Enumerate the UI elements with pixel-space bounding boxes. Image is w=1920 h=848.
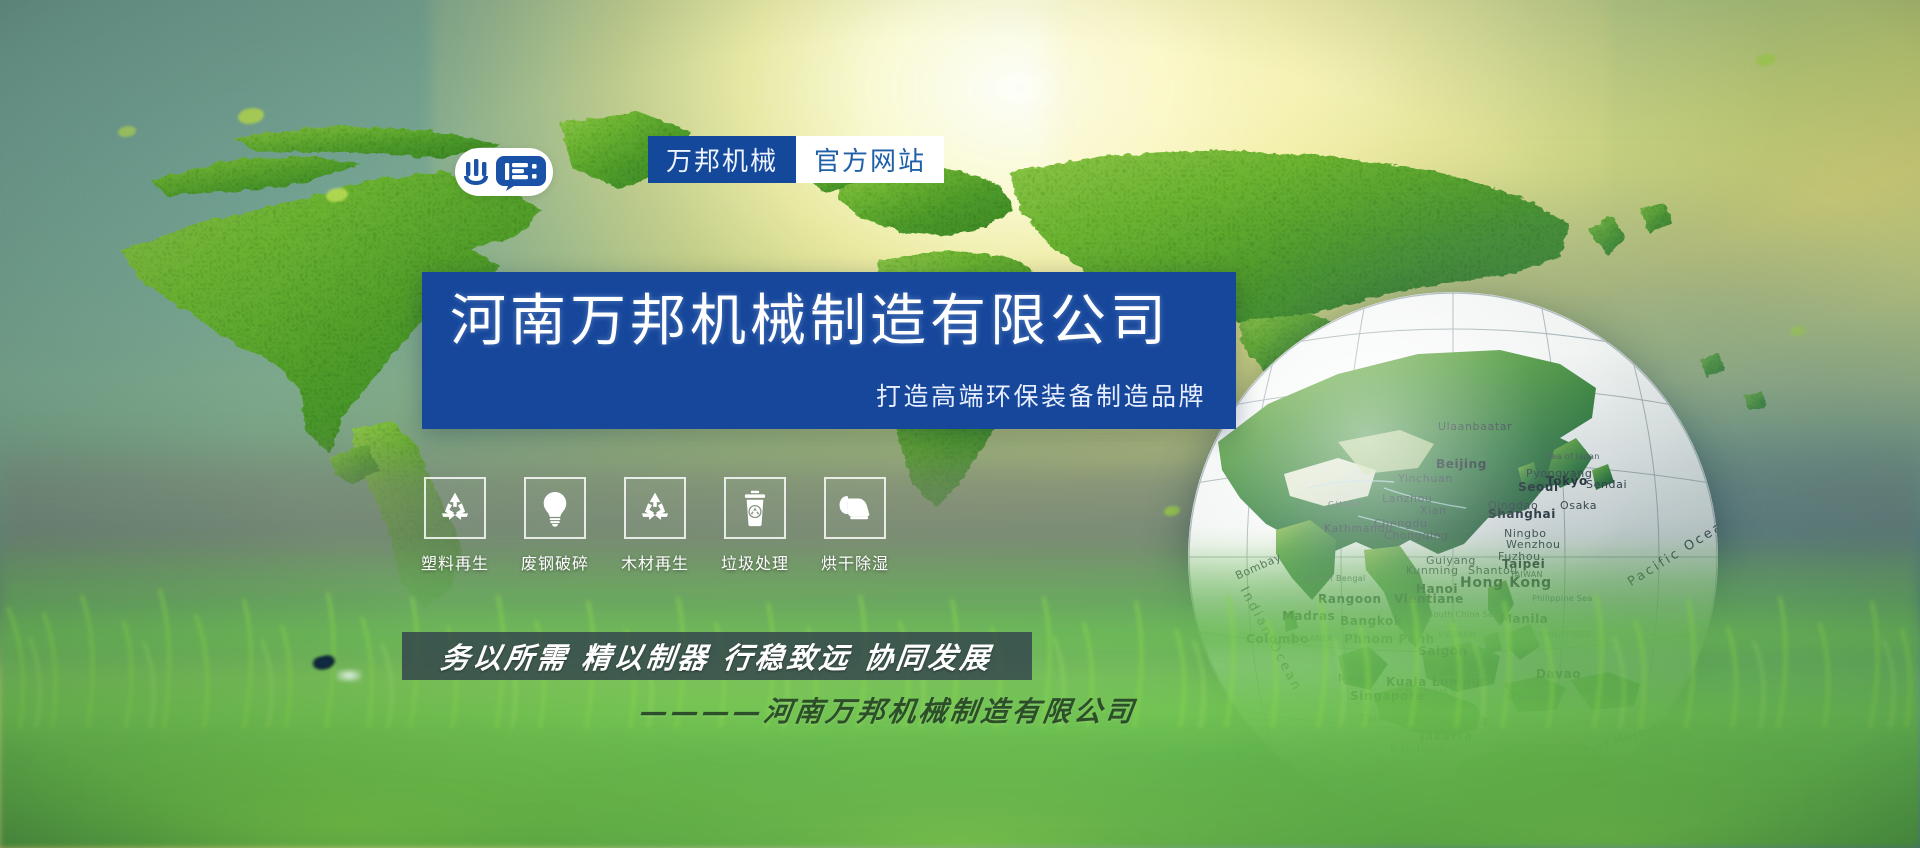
globe-city-label: Osaka bbox=[1560, 499, 1597, 512]
feature-item-waste-treatment[interactable]: 垃圾处理 bbox=[724, 477, 786, 574]
feature-label: 木材再生 bbox=[621, 550, 689, 574]
dryer-blower-icon bbox=[836, 489, 874, 527]
feature-icon-box[interactable] bbox=[624, 477, 686, 539]
slogan-text: 务以所需 精以制器 行稳致远 协同发展 bbox=[439, 635, 995, 677]
globe-region-label: Sea of Japan bbox=[1546, 452, 1600, 461]
globe-city-label: Qingdao bbox=[1488, 499, 1538, 512]
lightbulb-icon bbox=[536, 489, 574, 527]
site-tabs: 万邦机械 官方网站 bbox=[648, 136, 944, 183]
feature-item-wood-recycling[interactable]: 木材再生 bbox=[624, 477, 686, 574]
globe-city-label: Yinchuan bbox=[1398, 472, 1453, 485]
feature-label: 垃圾处理 bbox=[721, 550, 789, 574]
page-title: 河南万邦机械制造有限公司 bbox=[450, 288, 1170, 355]
globe-city-label: Xian bbox=[1420, 504, 1447, 517]
feature-label: 塑料再生 bbox=[421, 550, 489, 574]
feature-icon-box[interactable] bbox=[824, 477, 886, 539]
tab-company-name[interactable]: 万邦机械 bbox=[648, 136, 796, 183]
hero-banner: Pacific Ocean Indian Ocean Beijing Tokyo… bbox=[0, 0, 1920, 848]
feature-item-scrap-steel-shredding[interactable]: 废钢破碎 bbox=[524, 477, 586, 574]
trash-bin-icon bbox=[736, 489, 774, 527]
feature-icon-box[interactable] bbox=[424, 477, 486, 539]
globe-city-label: Ulaanbaatar bbox=[1438, 420, 1512, 433]
globe-city-label: Lanzhou bbox=[1382, 492, 1433, 505]
feature-icon-row: 塑料再生 废钢破碎 bbox=[424, 477, 886, 574]
slogan-signature: ————河南万邦机械制造有限公司 bbox=[637, 690, 1263, 730]
slogan-banner: 务以所需 精以制器 行稳致远 协同发展 bbox=[402, 632, 1032, 680]
globe-city-label: Pyongyang bbox=[1526, 467, 1592, 480]
globe-city-label: Sendai bbox=[1586, 478, 1627, 491]
feature-item-drying-dehumidification[interactable]: 烘干除湿 bbox=[824, 477, 886, 574]
feature-icon-box[interactable] bbox=[524, 477, 586, 539]
feature-label: 废钢破碎 bbox=[521, 550, 589, 574]
tab-official-site[interactable]: 官方网站 bbox=[796, 136, 944, 183]
globe-city-label: Seoul bbox=[1518, 480, 1559, 494]
recycle-icon bbox=[436, 489, 474, 527]
dew-drop bbox=[336, 669, 362, 682]
page-subtitle: 打造高端环保装备制造品牌 bbox=[876, 377, 1206, 413]
feature-label: 烘干除湿 bbox=[821, 550, 889, 574]
hero-title-panel: 河南万邦机械制造有限公司 打造高端环保装备制造品牌 bbox=[422, 272, 1236, 429]
wanbang-logo-icon[interactable] bbox=[455, 148, 553, 196]
feature-icon-box[interactable] bbox=[724, 477, 786, 539]
feature-item-plastic-recycling[interactable]: 塑料再生 bbox=[424, 477, 486, 574]
recycle-icon bbox=[636, 489, 674, 527]
globe-region-label: CHINA bbox=[1328, 500, 1363, 509]
globe-city-label: Beijing bbox=[1436, 457, 1487, 471]
